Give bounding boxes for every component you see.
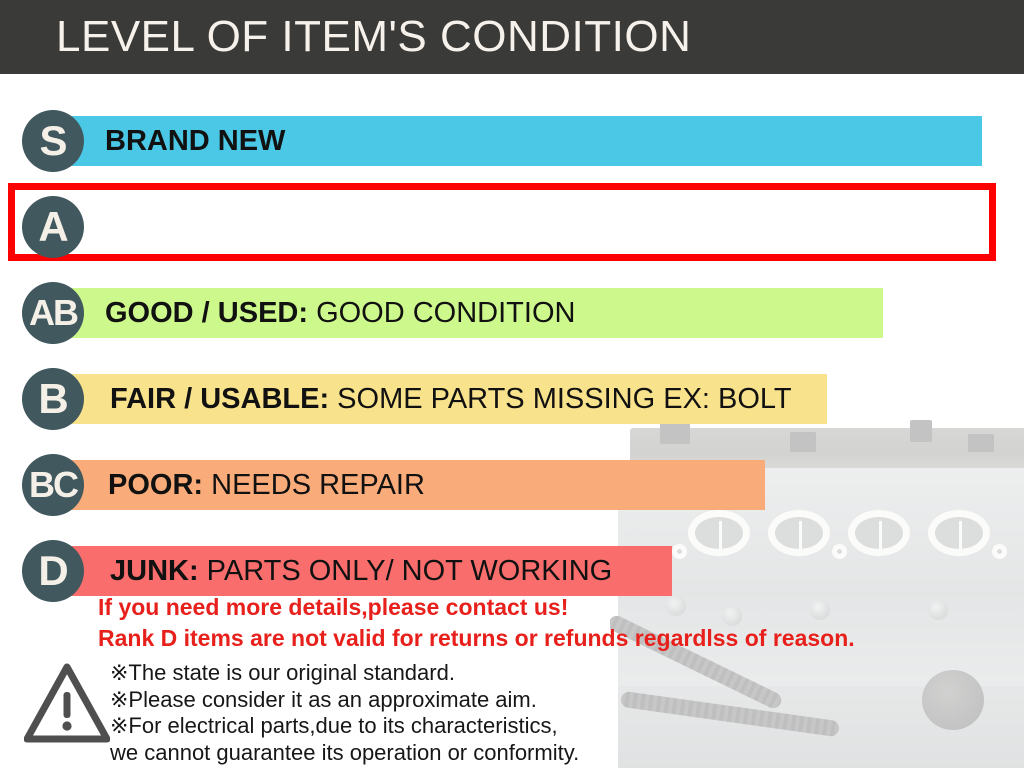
rank-label-bold-d: JUNK:	[110, 555, 199, 587]
rank-badge-label-bc: BC	[29, 463, 77, 507]
rank-bar-bc: POOR: NEEDS REPAIR	[60, 460, 765, 510]
rank-label-rest-ab: GOOD CONDITION	[308, 297, 575, 329]
notice-small-line-4: we cannot guarantee its operation or con…	[110, 740, 730, 767]
rank-label-ab: GOOD / USED: GOOD CONDITION	[105, 296, 575, 330]
rank-label-rest-b: SOME PARTS MISSING EX: BOLT	[329, 383, 792, 415]
notice-small-line-1: ※The state is our original standard.	[110, 660, 730, 687]
rank-label-bc: POOR: NEEDS REPAIR	[108, 468, 425, 502]
notice-small-block: ※The state is our original standard. ※Pl…	[110, 660, 730, 766]
rank-bar-s: BRAND NEW	[60, 116, 982, 166]
rank-label-rest-bc: NEEDS REPAIR	[203, 469, 425, 501]
rank-badge-b: B	[22, 368, 84, 430]
rank-label-s: BRAND NEW	[105, 124, 285, 158]
engine-cap	[922, 670, 984, 730]
rank-label-d: JUNK: PARTS ONLY/ NOT WORKING	[110, 554, 612, 588]
rank-row-s: BRAND NEW S	[0, 105, 1024, 177]
rank-badge-a: A	[22, 196, 84, 258]
rank-label-bold-s: BRAND NEW	[105, 125, 285, 157]
rank-bar-ab: GOOD / USED: GOOD CONDITION	[60, 288, 883, 338]
rank-badge-d: D	[22, 540, 84, 602]
condition-level-infographic: LEVEL OF ITEM'S CONDITION BRAND NEW S GO…	[0, 0, 1024, 768]
rank-row-ab: GOOD / USED: GOOD CONDITION AB	[0, 277, 1024, 349]
page-title: LEVEL OF ITEM'S CONDITION	[56, 12, 691, 62]
rank-bar-d: JUNK: PARTS ONLY/ NOT WORKING	[60, 546, 672, 596]
rank-badge-label-b: B	[38, 377, 67, 421]
rank-badge-label-a: A	[38, 205, 67, 249]
rank-row-b: FAIR / USABLE: SOME PARTS MISSING EX: BO…	[0, 363, 1024, 435]
rank-bar-b: FAIR / USABLE: SOME PARTS MISSING EX: BO…	[60, 374, 827, 424]
rank-row-bc: POOR: NEEDS REPAIR BC	[0, 449, 1024, 521]
notice-red-line-2: Rank D items are not valid for returns o…	[98, 623, 998, 654]
rank-badge-bc: BC	[22, 454, 84, 516]
rank-badge-label-s: S	[39, 119, 66, 163]
rank-label-bold-b: FAIR / USABLE:	[110, 383, 329, 415]
notice-red-block: If you need more details,please contact …	[98, 592, 998, 654]
notice-red-line-1: If you need more details,please contact …	[98, 592, 998, 623]
rank-badge-s: S	[22, 110, 84, 172]
header-bar: LEVEL OF ITEM'S CONDITION	[0, 0, 1024, 74]
notice-small-line-2: ※Please consider it as an approximate ai…	[110, 687, 730, 714]
rank-label-b: FAIR / USABLE: SOME PARTS MISSING EX: BO…	[110, 382, 792, 416]
rank-badge-ab: AB	[22, 282, 84, 344]
rank-badge-label-ab: AB	[29, 291, 77, 335]
rank-label-bold-ab: GOOD / USED:	[105, 297, 308, 329]
notice-small-line-3: ※For electrical parts,due to its charact…	[110, 713, 730, 740]
rank-label-rest-d: PARTS ONLY/ NOT WORKING	[199, 555, 613, 587]
rank-label-bold-bc: POOR:	[108, 469, 203, 501]
rank-badge-label-d: D	[38, 549, 67, 593]
warning-triangle-icon	[24, 662, 110, 744]
rank-a-highlight-box	[8, 183, 996, 261]
